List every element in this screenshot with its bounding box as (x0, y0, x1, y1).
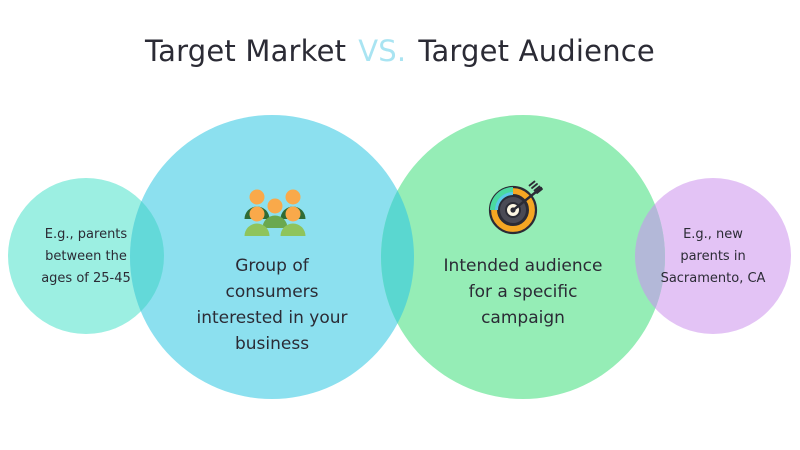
label-market-main: Group of consumers interested in your bu… (167, 253, 377, 357)
label-line: Sacramento, CA (648, 268, 778, 290)
label-line: for a specific (418, 279, 628, 305)
label-line: parents in (648, 246, 778, 268)
label-line: between the (21, 246, 151, 268)
label-line: interested in your (167, 305, 377, 331)
label-line: consumers (167, 279, 377, 305)
label-line: Group of (167, 253, 377, 279)
label-line: Intended audience (418, 253, 628, 279)
target-arrow-icon (487, 178, 549, 236)
label-audience-example: E.g., new parents in Sacramento, CA (648, 224, 778, 290)
label-line: campaign (418, 305, 628, 331)
label-line: ages of 25-45 (21, 268, 151, 290)
people-group-icon (243, 188, 307, 238)
label-line: E.g., new (648, 224, 778, 246)
label-audience-main: Intended audience for a specific campaig… (418, 253, 628, 331)
label-line: E.g., parents (21, 224, 151, 246)
label-market-example: E.g., parents between the ages of 25-45 (21, 224, 151, 290)
infographic-canvas: Target MarketVS.Target Audience (0, 0, 800, 450)
label-line: business (167, 331, 377, 357)
